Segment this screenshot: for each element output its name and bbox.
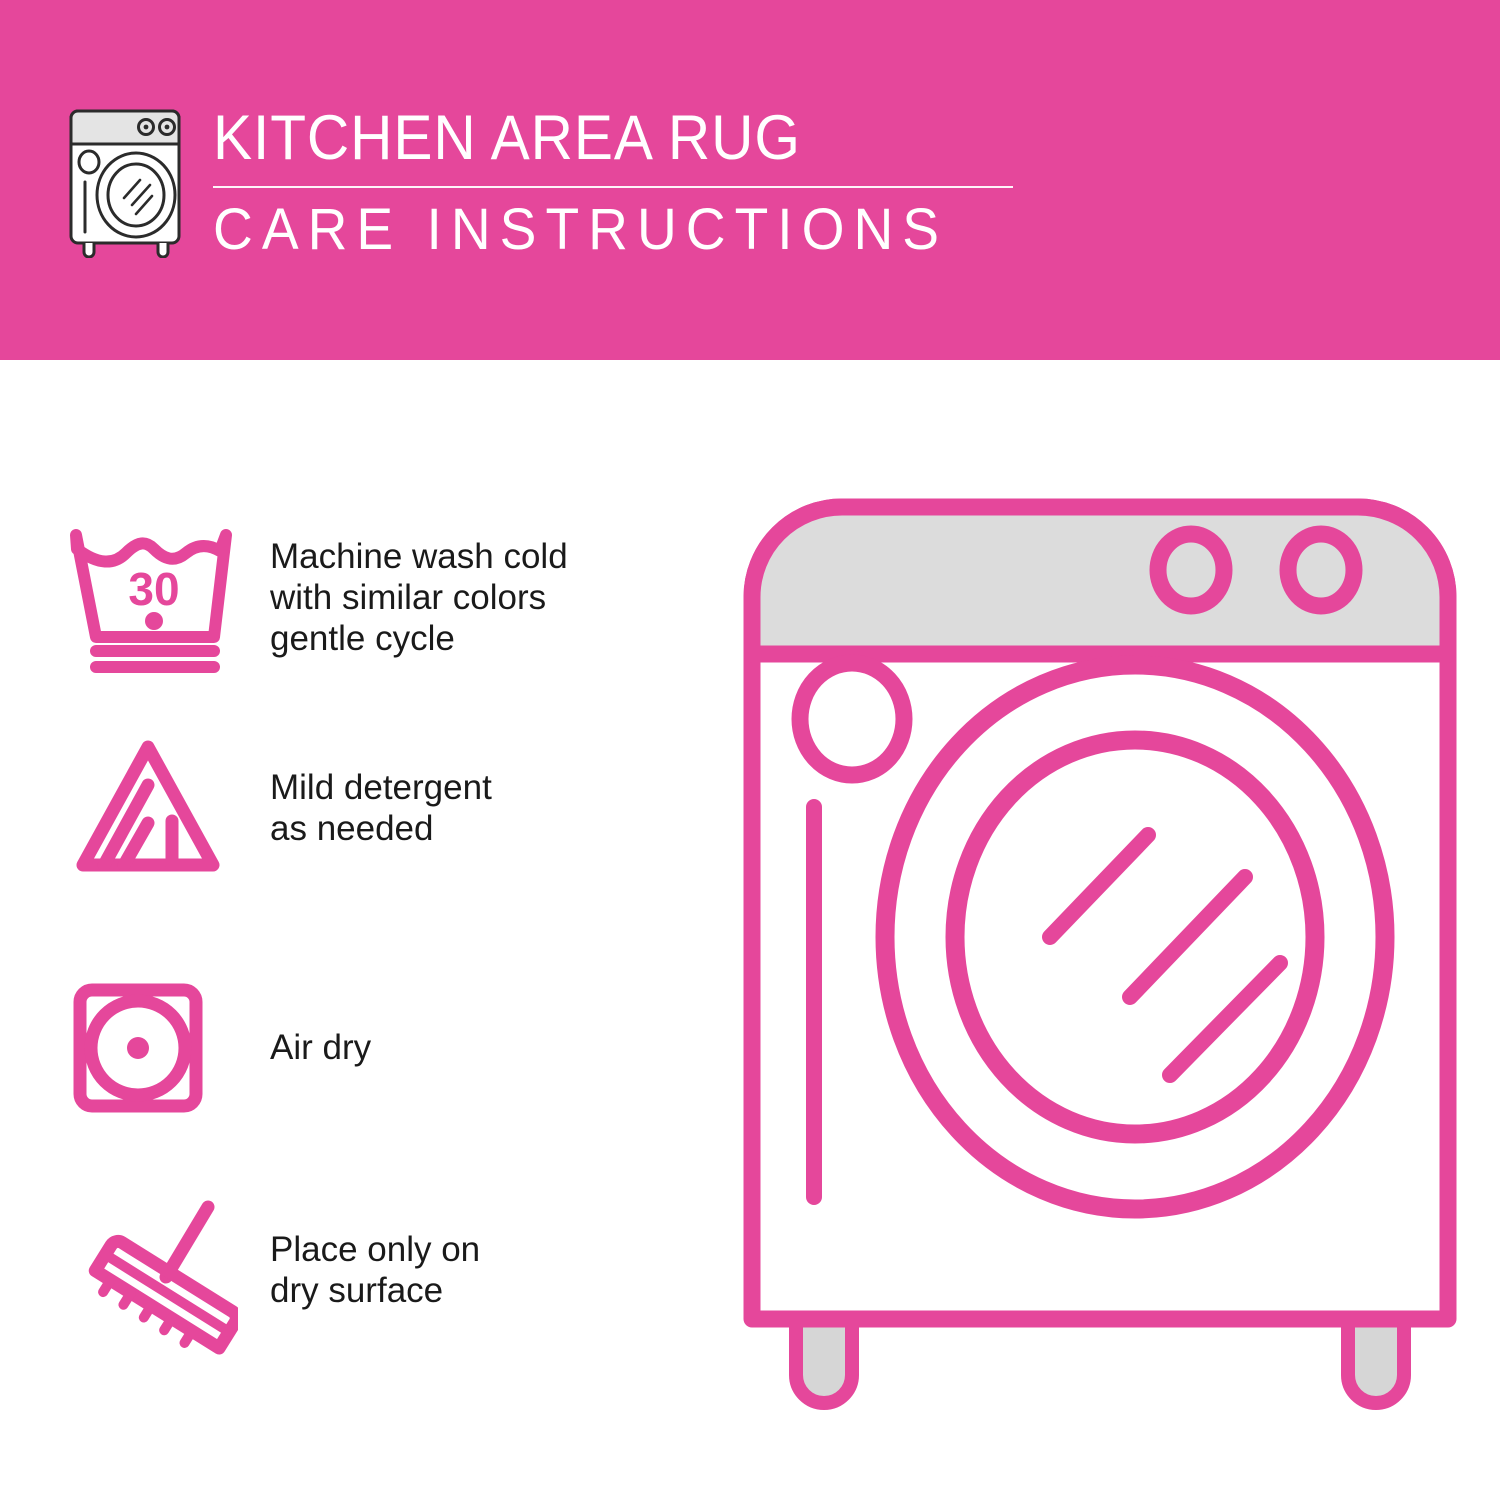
care-item-air-dry: Air dry (0, 955, 680, 1140)
care-item-label: Air dry (270, 1027, 371, 1068)
care-item-mild-detergent: Mild detergent as needed (0, 715, 680, 900)
page-subtitle: CARE INSTRUCTIONS (213, 197, 983, 263)
tumble-dry-icon (68, 965, 248, 1130)
care-item-label: Machine wash cold with similar colors ge… (270, 536, 568, 659)
machine-leg (796, 1317, 1404, 1403)
page-title: KITCHEN AREA RUG (213, 102, 966, 174)
broom-icon (68, 1188, 248, 1353)
washing-machine-illustration (730, 485, 1470, 1435)
header-divider (213, 186, 1013, 188)
wash-tub-30-icon: 30 (68, 515, 248, 680)
svg-text:30: 30 (128, 563, 179, 615)
care-item-label: Place only on dry surface (270, 1229, 480, 1311)
care-instructions-list: 30 Machine wash cold with similar colors… (0, 360, 680, 1500)
care-item-dry-surface: Place only on dry surface (0, 1175, 680, 1365)
washing-machine-icon (66, 106, 188, 258)
bleach-triangle-icon (68, 725, 248, 890)
care-item-machine-wash: 30 Machine wash cold with similar colors… (0, 505, 680, 690)
care-item-label: Mild detergent as needed (270, 767, 492, 849)
header-text-block: KITCHEN AREA RUG CARE INSTRUCTIONS (213, 102, 1023, 263)
header-banner: KITCHEN AREA RUG CARE INSTRUCTIONS (0, 0, 1500, 360)
